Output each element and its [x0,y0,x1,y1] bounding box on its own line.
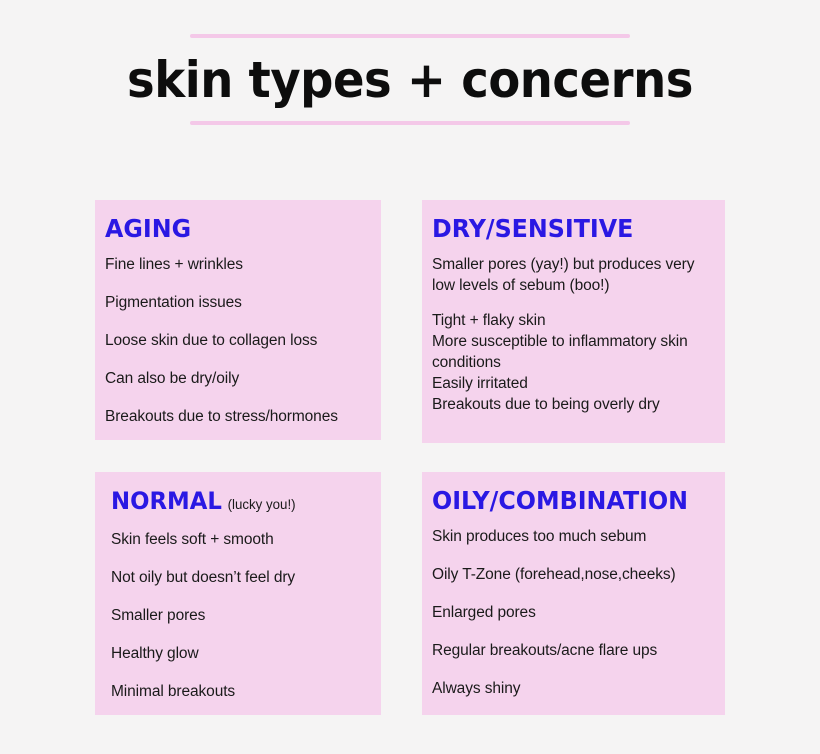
list-item: Healthy glow [111,643,367,664]
list-item: Easily irritated [432,373,711,394]
list-item: Loose skin due to collagen loss [105,330,367,351]
list-item: Breakouts due to stress/hormones [105,406,367,427]
divider-bottom [190,121,630,125]
card-oily-combination-list: Skin produces too much sebum Oily T-Zone… [432,526,711,699]
list-item: Oily T-Zone (forehead,nose,cheeks) [432,564,711,585]
divider-top [190,34,630,38]
card-normal-list: Skin feels soft + smooth Not oily but do… [111,529,367,702]
card-dry-sensitive: DRY/SENSITIVE Smaller pores (yay!) but p… [422,200,725,443]
card-oily-combination-heading: OILY/COMBINATION [432,486,697,516]
card-dry-sensitive-intro: Smaller pores (yay!) but produces very l… [432,254,711,296]
card-normal-heading: NORMAL(lucky you!) [111,486,354,519]
cards-grid: AGING Fine lines + wrinkles Pigmentation… [95,200,725,715]
page-title: skin types + concerns [29,49,792,111]
list-item: Can also be dry/oily [105,368,367,389]
card-normal: NORMAL(lucky you!) Skin feels soft + smo… [95,472,381,715]
card-aging-heading-text: AGING [105,214,191,243]
cards-row-top: AGING Fine lines + wrinkles Pigmentation… [95,200,725,443]
card-aging: AGING Fine lines + wrinkles Pigmentation… [95,200,381,440]
list-item: Smaller pores [111,605,367,626]
list-item: Enlarged pores [432,602,711,623]
list-item: Skin feels soft + smooth [111,529,367,550]
card-aging-heading: AGING [105,214,354,244]
list-item: More susceptible to inflammatory skin co… [432,331,711,373]
card-normal-heading-suffix: (lucky you!) [228,496,296,512]
card-dry-sensitive-heading: DRY/SENSITIVE [432,214,697,244]
list-item: Skin produces too much sebum [432,526,711,547]
row-spacer [95,443,725,472]
spacer [432,296,711,310]
cards-row-bottom: NORMAL(lucky you!) Skin feels soft + smo… [95,472,725,715]
list-item: Pigmentation issues [105,292,367,313]
card-dry-sensitive-list: Tight + flaky skin More susceptible to i… [432,310,711,415]
card-oily-combination-heading-text: OILY/COMBINATION [432,486,688,515]
card-aging-list: Fine lines + wrinkles Pigmentation issue… [105,254,367,427]
list-item: Not oily but doesn’t feel dry [111,567,367,588]
card-oily-combination: OILY/COMBINATION Skin produces too much … [422,472,725,715]
list-item: Breakouts due to being overly dry [432,394,711,415]
card-normal-heading-text: NORMAL [111,487,222,515]
list-item: Tight + flaky skin [432,310,711,331]
list-item: Regular breakouts/acne flare ups [432,640,711,661]
page-header: skin types + concerns [0,0,820,125]
infographic-page: skin types + concerns AGING Fine lines +… [0,0,820,754]
list-item: Always shiny [432,678,711,699]
list-item: Fine lines + wrinkles [105,254,367,275]
card-dry-sensitive-heading-text: DRY/SENSITIVE [432,214,633,243]
list-item: Minimal breakouts [111,681,367,702]
